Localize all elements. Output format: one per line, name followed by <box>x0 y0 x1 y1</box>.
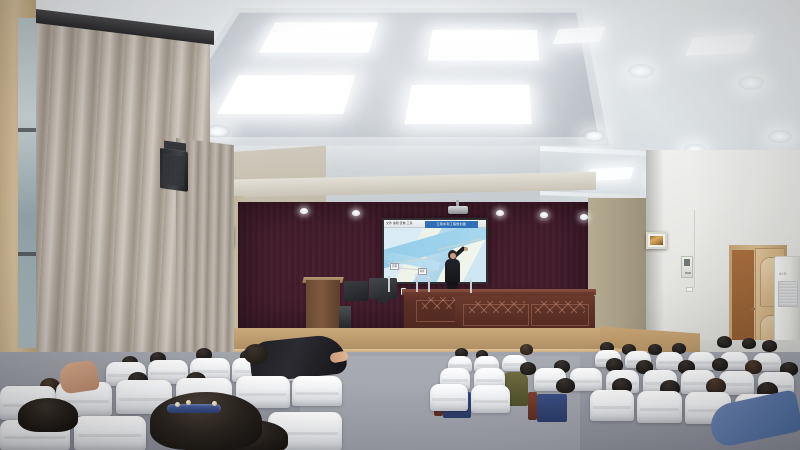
stage-spotlight-5 <box>580 214 588 220</box>
list-item[interactable] <box>292 376 342 406</box>
microphone-3 <box>428 278 430 292</box>
microphone-1 <box>388 278 390 292</box>
slide-menu-text: 文件 编辑 查看 工具 <box>386 221 413 225</box>
wall-conduit <box>694 210 696 288</box>
microphone-head-3 <box>427 276 430 279</box>
slide-title-bar: 江南水利工程规划图 <box>425 221 478 228</box>
microphone-head-2 <box>415 274 418 277</box>
framed-picture-right <box>646 232 667 249</box>
slide-map: 西区 港区 开发区 <box>384 228 486 282</box>
list-item[interactable] <box>471 385 510 413</box>
downlight-d <box>628 64 654 78</box>
control-panel-button[interactable] <box>685 272 691 274</box>
panel-light-3 <box>217 76 354 114</box>
desk-panel-right <box>531 304 589 326</box>
window-mullion-1 <box>18 128 36 132</box>
seat-armrest <box>528 392 537 420</box>
seat-back-blue <box>537 394 567 422</box>
downlight-e <box>738 76 764 90</box>
rect-light-5 <box>685 34 755 55</box>
head-r1a <box>717 336 732 348</box>
stage-spotlight-3 <box>496 210 504 216</box>
list-item[interactable] <box>430 384 468 411</box>
stage-monitor-2 <box>369 278 397 299</box>
window-mullion-2 <box>18 252 36 256</box>
panel-light-4 <box>404 85 532 125</box>
av-equipment-rack <box>339 306 351 328</box>
stage-spotlight-4 <box>540 212 548 218</box>
microphone-head-4 <box>469 278 472 281</box>
left-window-strip <box>18 18 36 348</box>
wall-control-panel[interactable] <box>681 256 693 278</box>
presenter-body <box>445 259 460 283</box>
list-item[interactable] <box>637 391 682 423</box>
framed-picture-right-art <box>650 236 663 245</box>
microphone-2 <box>416 276 418 292</box>
panel-light-1 <box>259 23 378 53</box>
projected-slide: 西区 港区 开发区 文件 编辑 查看 工具 江南水利工程规划图 <box>384 220 486 282</box>
presenter-hand <box>464 247 468 251</box>
list-item[interactable] <box>590 390 634 421</box>
lectern <box>306 280 340 328</box>
slide-title-text: 江南水利工程规划图 <box>425 221 478 228</box>
head-r1c <box>762 340 777 352</box>
list-item[interactable] <box>74 416 146 450</box>
head-r1b <box>742 338 756 349</box>
panel-light-2 <box>427 30 540 61</box>
attendee-foreground-head-1 <box>150 392 262 450</box>
ac-brand-label: AIR <box>779 271 787 276</box>
stage-spotlight-1 <box>300 208 308 214</box>
map-label-1: 西区 <box>390 263 399 270</box>
map-label-2: 港区 <box>418 268 427 275</box>
microphone-head-1 <box>387 276 390 279</box>
wall-socket <box>686 287 693 292</box>
hair-pearl-3 <box>212 401 217 406</box>
hair-pearl-2 <box>186 400 191 405</box>
stage-monitor-1 <box>344 281 368 301</box>
ceiling-projector <box>448 206 468 214</box>
auditorium-scene: AIR 西区 港区 开发区 <box>0 0 800 450</box>
desk-panel-mid <box>463 304 529 326</box>
stage-monitor-stand <box>378 298 388 303</box>
head-r3e <box>556 378 575 393</box>
attendee-leaning-head <box>244 344 268 364</box>
control-panel-screen <box>684 259 690 266</box>
head-r2d <box>712 358 728 371</box>
door-handle[interactable] <box>751 308 755 310</box>
speaker-grille <box>163 153 184 186</box>
attendee-foreground-head-3 <box>18 398 78 432</box>
presenter <box>443 250 465 292</box>
ceiling-coffer-inner <box>159 12 600 138</box>
stage-side-wall-right <box>588 198 646 340</box>
microphone-4 <box>470 280 472 293</box>
ac-vent-grille <box>778 281 798 307</box>
head-r1h <box>520 344 533 355</box>
rect-light-4 <box>552 27 605 44</box>
wall-speaker <box>160 148 188 192</box>
downlight-f <box>583 130 605 142</box>
stage-spotlight-2 <box>352 210 360 216</box>
hair-pearl-1 <box>175 402 180 407</box>
downlight-h <box>768 130 792 143</box>
attendee-foreground-arm <box>58 360 100 395</box>
projection-screen[interactable]: 西区 港区 开发区 文件 编辑 查看 工具 江南水利工程规划图 <box>382 218 488 284</box>
